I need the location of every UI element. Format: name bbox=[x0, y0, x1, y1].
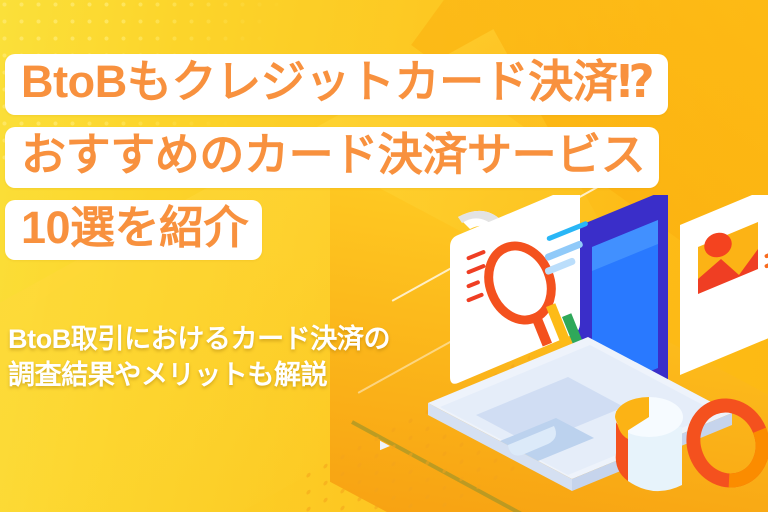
headline-line-3: 10選を紹介 bbox=[21, 205, 248, 252]
headline-row-1: BtoBもクレジットカード決済⁉ bbox=[0, 54, 768, 127]
headline-panel-1: BtoBもクレジットカード決済⁉ bbox=[5, 54, 668, 115]
headline-line-1: BtoBもクレジットカード決済⁉ bbox=[21, 59, 654, 106]
headline-row-3: 10選を紹介 bbox=[0, 200, 768, 273]
headline-row-2: おすすめのカード決済サービス bbox=[0, 127, 768, 200]
promo-banner: BtoBもクレジットカード決済⁉ おすすめのカード決済サービス 10選を紹介 B… bbox=[0, 0, 768, 512]
cylinder-pie-chart bbox=[615, 397, 683, 491]
headline-stack: BtoBもクレジットカード決済⁉ おすすめのカード決済サービス 10選を紹介 bbox=[0, 54, 768, 272]
headline-panel-2: おすすめのカード決済サービス bbox=[5, 127, 659, 188]
headline-panel-3: 10選を紹介 bbox=[5, 200, 262, 261]
banner-subtitle: BtoB取引におけるカード決済の 調査結果やメリットも解説 bbox=[8, 322, 478, 393]
headline-line-2: おすすめのカード決済サービス bbox=[21, 132, 645, 179]
